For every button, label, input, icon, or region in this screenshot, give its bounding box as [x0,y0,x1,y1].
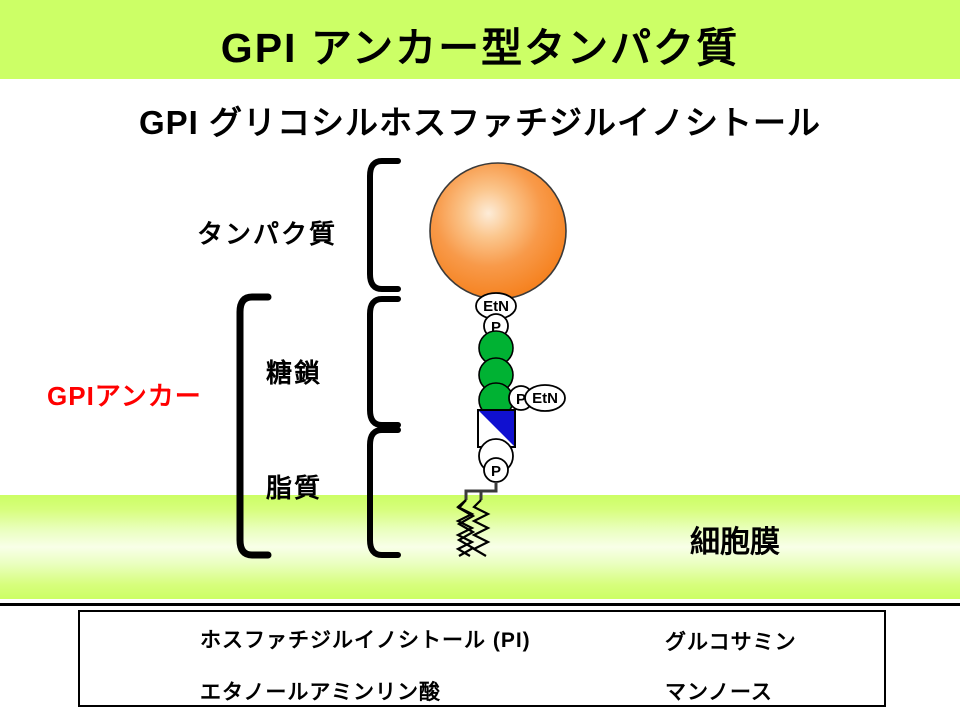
cell-membrane-label: 細胞膜 [690,517,780,561]
mannose-node-3 [479,383,513,417]
cell-membrane-band [0,495,960,599]
bracket-protein [370,161,398,289]
bracket-label-gpi-anchor: GPIアンカー [47,376,202,413]
glucosamine-square-blue-half [478,410,515,447]
phosphate-node-top-label: P [491,319,501,336]
subtitle: GPI グリコシルホスファチジルイノシトール [0,96,960,144]
bracket-glycan [370,299,398,425]
phosphate-node-top [484,314,508,338]
bracket-label-lipid: 脂質 [266,468,322,505]
etn-node-top-label: EtN [483,298,509,315]
inositol-node [479,439,513,473]
membrane-underline [0,603,960,606]
glucosamine-square-background [478,410,515,447]
title-bar: GPI アンカー型タンパク質 [0,0,960,79]
etn-node-side [525,385,565,411]
phosphate-node-bottom [484,458,508,482]
legend-label-etn-phosphate: エタノールアミンリン酸 [200,676,441,706]
legend-label-glucosamine: グルコサミン [665,626,797,656]
protein-sphere [430,163,566,299]
glucosamine-square-outline [478,410,515,447]
phosphate-node-side-label: P [516,391,526,408]
mannose-node-1 [479,331,513,365]
bracket-label-glycan: 糖鎖 [266,353,322,390]
bracket-label-protein: タンパク質 [197,214,337,251]
etn-node-top [476,293,516,319]
phosphate-node-bottom-label: P [491,463,501,480]
legend-label-mannose: マンノース [665,676,773,706]
mannose-node-2 [479,358,513,392]
etn-node-side-label: EtN [532,390,558,407]
phosphate-node-side [509,386,533,410]
page-title: GPI アンカー型タンパク質 [0,14,960,74]
legend-label-pi: ホスファチジルイノシトール (PI) [200,624,531,654]
